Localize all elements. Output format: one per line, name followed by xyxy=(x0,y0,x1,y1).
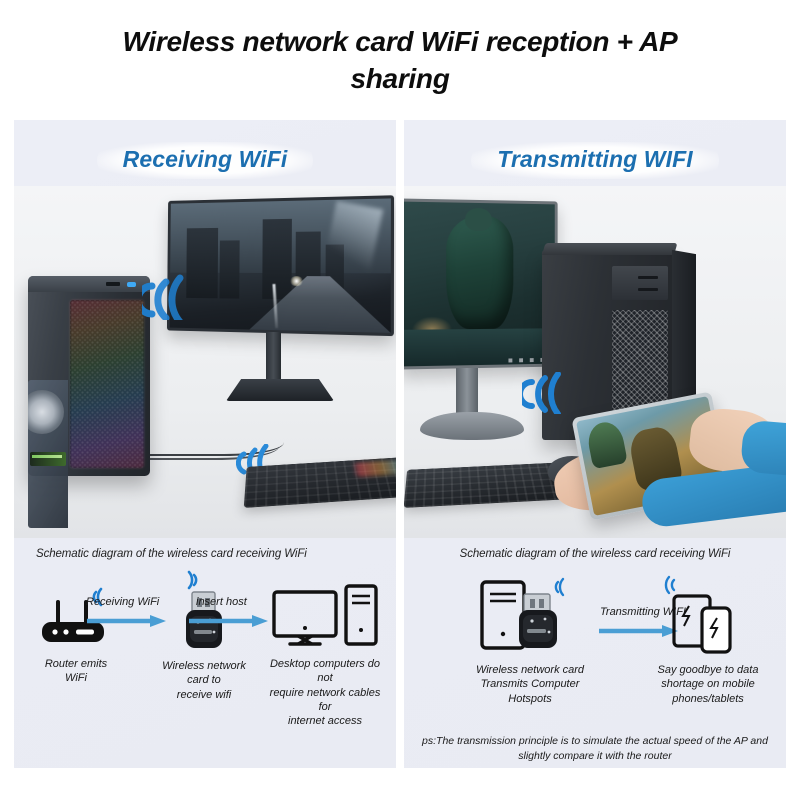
drive-bay-slot xyxy=(638,276,658,279)
schematic-node-desktop: Desktop computers do not require network… xyxy=(262,582,388,728)
wifi-signal-icon xyxy=(522,372,574,414)
page-title: Wireless network card WiFi reception + A… xyxy=(90,24,710,98)
schematic-arrow-label-receiving-wifi: Receiving WiFi xyxy=(86,596,159,608)
monitor-stand-neck-right xyxy=(456,368,478,416)
monitor-screen-left xyxy=(170,198,391,332)
monitor-left xyxy=(167,195,394,336)
keyboard-rgb-glow xyxy=(355,460,396,477)
screen-ruin xyxy=(263,219,292,299)
drive-bay xyxy=(612,266,668,300)
tower-top xyxy=(542,243,677,255)
heading-pill-right: Transmitting WIFI xyxy=(471,142,719,179)
graphics-card-logo xyxy=(32,455,62,458)
schematic-node-label: Wireless network card to receive wifi xyxy=(150,659,258,702)
product-infographic: Wireless network card WiFi reception + A… xyxy=(0,0,800,800)
screen-ruin xyxy=(220,240,240,299)
schematic-caption-left: Schematic diagram of the wireless card r… xyxy=(14,548,396,560)
schematic-node-label: Say goodbye to data shortage on mobile p… xyxy=(644,663,772,706)
computer-tower-with-adapter-icon xyxy=(466,574,594,658)
schematic-node-label: Wireless network card Transmits Computer… xyxy=(466,663,594,706)
drive-bay-slot xyxy=(638,288,658,291)
screen-character-head xyxy=(465,208,492,231)
monitor-right xyxy=(404,198,558,369)
tower-rgb-glow xyxy=(70,300,144,468)
monitor-stand-base-right xyxy=(420,412,524,440)
wifi-signal-icon xyxy=(142,274,198,320)
heading-pill-left: Receiving WiFi xyxy=(97,142,314,179)
schematic-node-label: Router emits WiFi xyxy=(24,657,128,686)
tower-glass-side-panel xyxy=(28,380,68,528)
desktop-computer-icon xyxy=(262,582,388,652)
monitor-stand-foot-left xyxy=(226,379,334,401)
heading-label-right: Transmitting WIFI xyxy=(497,146,693,172)
schematic-receiving-wifi: Schematic diagram of the wireless card r… xyxy=(14,548,396,768)
schematic-node-tablet-phone: Say goodbye to data shortage on mobile p… xyxy=(644,574,772,706)
tablet-and-phone-icon xyxy=(644,574,772,658)
panel-receiving-wifi: Receiving WiFi xyxy=(14,120,396,768)
power-led xyxy=(127,282,136,287)
schematic-node-usb-adapter: Wireless network card to receive wifi xyxy=(150,570,258,702)
heading-receiving-wifi: Receiving WiFi xyxy=(14,138,396,182)
photo-transmitting-wifi xyxy=(404,186,786,538)
cpu-fan xyxy=(28,390,64,434)
monitor-screen-right xyxy=(404,202,555,367)
screen-headlight xyxy=(289,276,303,286)
schematic-arrow-label-insert-host: insert host xyxy=(196,596,247,608)
heading-label-left: Receiving WiFi xyxy=(123,146,288,172)
schematic-transmitting-wifi: Schematic diagram of the wireless card r… xyxy=(404,548,786,768)
schematic-node-label: Desktop computers do not require network… xyxy=(262,657,388,728)
usb-wifi-adapter-icon xyxy=(150,570,258,654)
usb-slot xyxy=(106,282,120,286)
schematic-ps-note: ps:The transmission principle is to simu… xyxy=(418,734,772,764)
schematic-node-tower-adapter: Wireless network card Transmits Computer… xyxy=(466,574,594,706)
panel-transmitting-wifi: Transmitting WIFI xyxy=(404,120,786,768)
heading-transmitting-wifi: Transmitting WIFI xyxy=(404,138,786,182)
tablet-game-palm xyxy=(585,419,628,469)
screen-game-character xyxy=(446,215,513,329)
photo-receiving-wifi xyxy=(14,186,396,538)
schematic-caption-right: Schematic diagram of the wireless card r… xyxy=(404,548,786,560)
monitor-stand-neck-left xyxy=(266,332,281,384)
pc-tower-left xyxy=(28,276,150,476)
arrow-right-icon xyxy=(188,614,270,628)
